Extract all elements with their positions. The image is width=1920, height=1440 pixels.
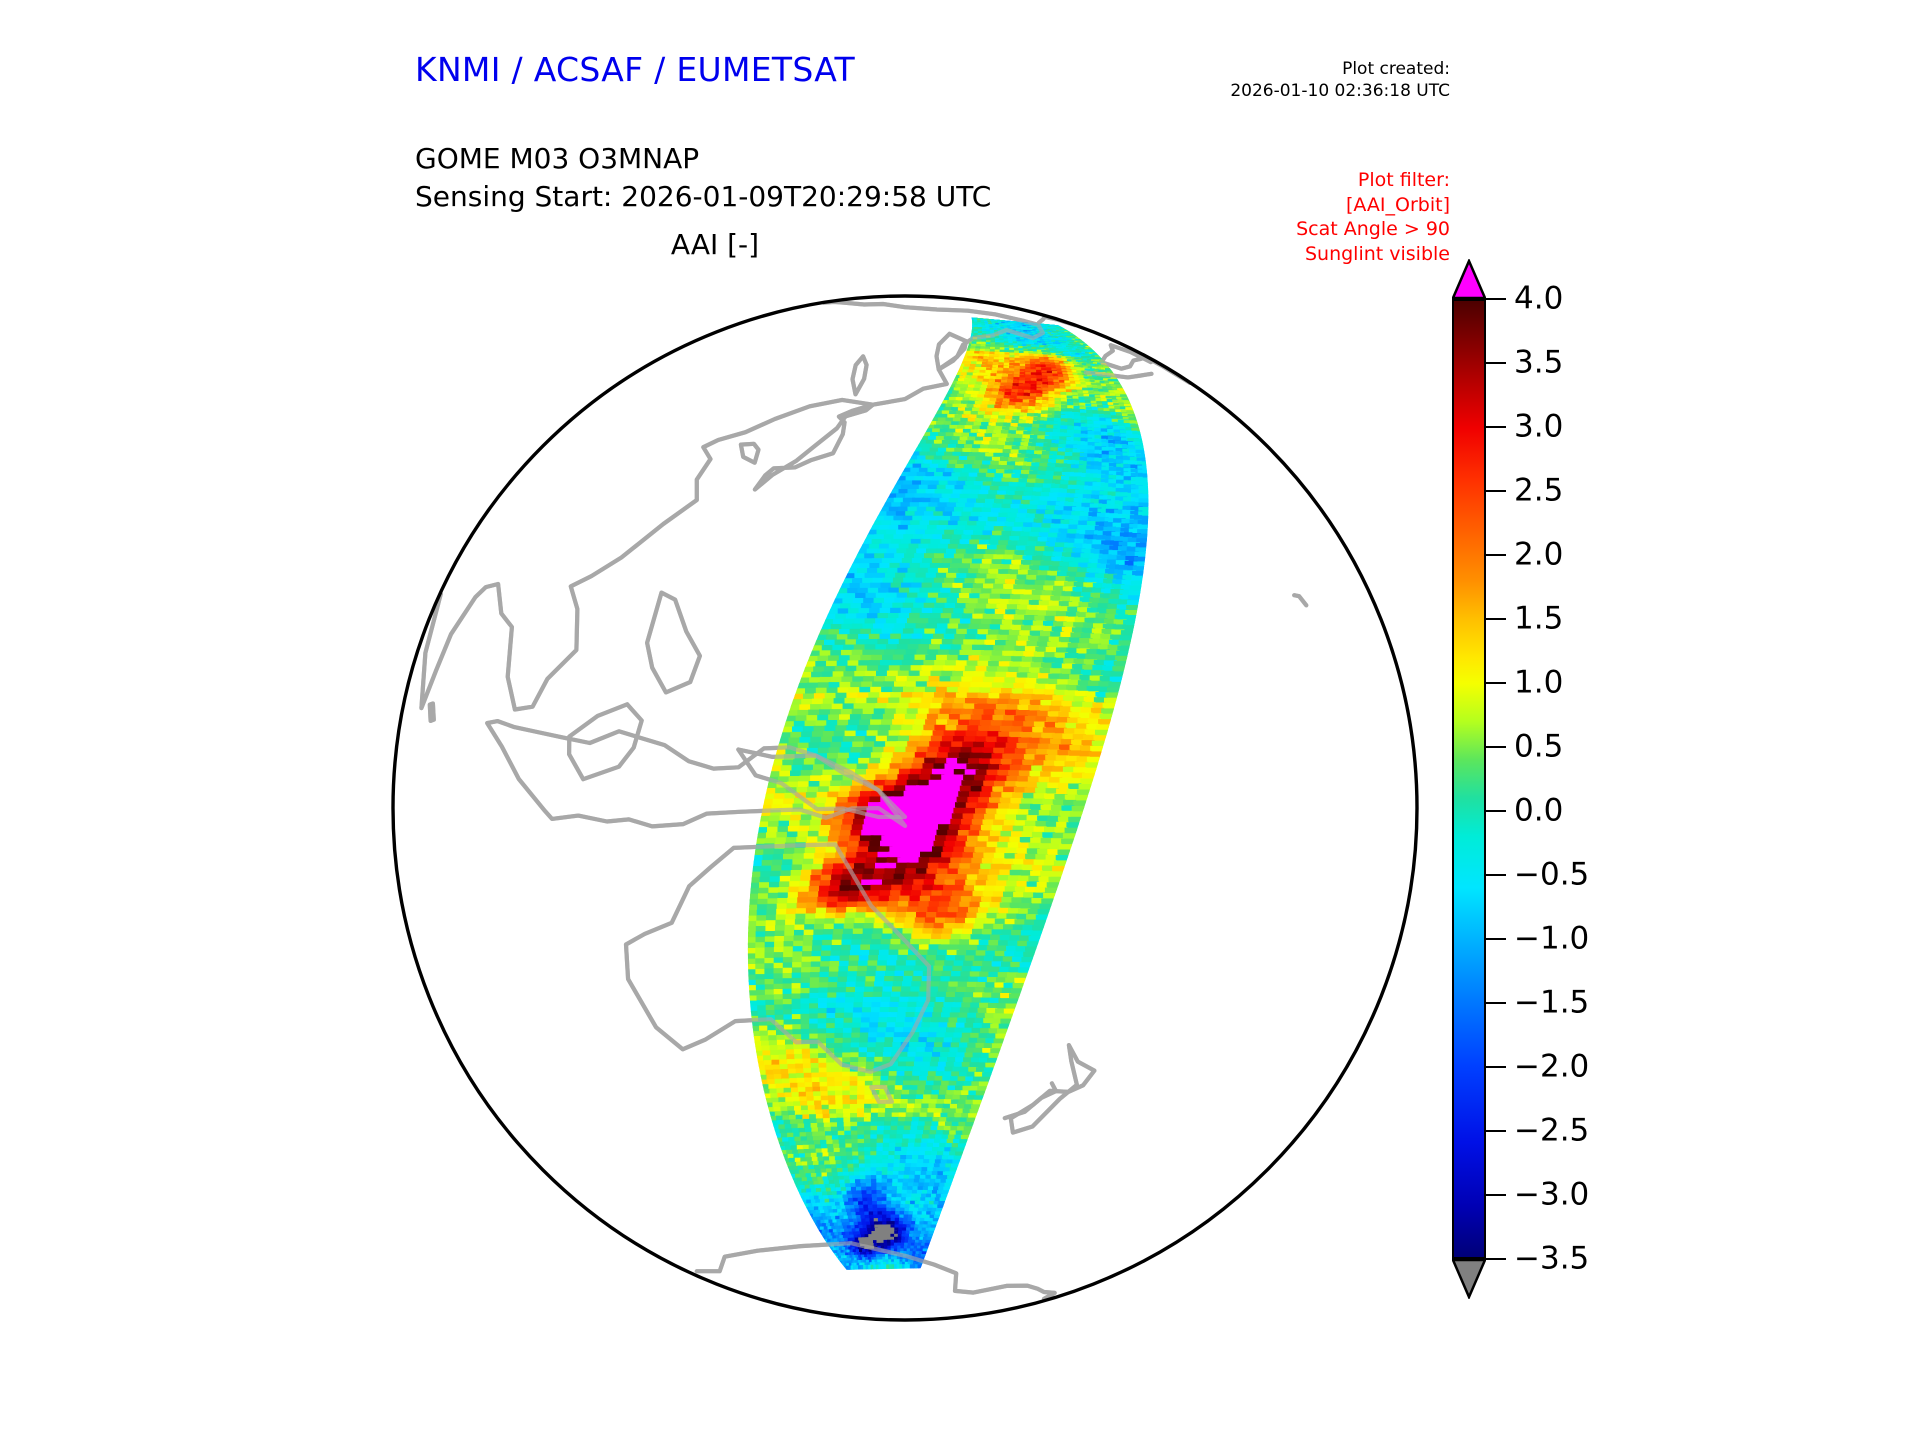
colorbar-tick-label: 4.0: [1514, 284, 1563, 315]
colorbar-tick: [1486, 810, 1506, 813]
colorbar-tick-label: 3.0: [1514, 412, 1563, 443]
plot-filter-block: Plot filter: [AAI_Orbit] Scat Angle > 90…: [1060, 168, 1450, 267]
colorbar-tick-label: −2.0: [1514, 1052, 1589, 1083]
colorbar-tick-label: 2.0: [1514, 540, 1563, 571]
sensing-start-title: Sensing Start: 2026-01-09T20:29:58 UTC: [415, 178, 991, 216]
colorbar-tick-label: −3.5: [1514, 1244, 1589, 1275]
colorbar-tick-label: −0.5: [1514, 860, 1589, 891]
colorbar-tick: [1486, 362, 1506, 365]
colorbar-tick-label: −1.0: [1514, 924, 1589, 955]
colorbar-tick-label: 3.5: [1514, 348, 1563, 379]
colorbar-tick: [1486, 298, 1506, 301]
plot-title-block: GOME M03 O3MNAP Sensing Start: 2026-01-0…: [415, 140, 991, 216]
colorbar-tick: [1486, 938, 1506, 941]
colorbar: [1452, 299, 1486, 1259]
plot-created-block: Plot created: 2026-01-10 02:36:18 UTC: [1060, 58, 1450, 103]
colorbar-tick: [1486, 1258, 1506, 1261]
colorbar-tick: [1486, 1130, 1506, 1133]
plot-canvas: KNMI / ACSAF / EUMETSAT Plot created: 20…: [0, 0, 1920, 1440]
colorbar-tick-labels: 4.03.53.02.52.01.51.00.50.0−0.5−1.0−1.5−…: [1514, 299, 1694, 1259]
instrument-title: GOME M03 O3MNAP: [415, 140, 991, 178]
organisation-header: KNMI / ACSAF / EUMETSAT: [415, 50, 855, 89]
colorbar-under-arrow: [1452, 1259, 1486, 1299]
colorbar-tick: [1486, 1066, 1506, 1069]
colorbar-tick-label: 0.0: [1514, 796, 1563, 827]
colorbar-tick: [1486, 1194, 1506, 1197]
colorbar-tick: [1486, 1002, 1506, 1005]
colorbar-tick: [1486, 746, 1506, 749]
globe-map: [385, 288, 1425, 1328]
plot-filter-line-2: Scat Angle > 90: [1060, 217, 1450, 242]
colorbar-tick-label: −1.5: [1514, 988, 1589, 1019]
colorbar-tick-label: 0.5: [1514, 732, 1563, 763]
colorbar-tick: [1486, 618, 1506, 621]
colorbar-tick: [1486, 490, 1506, 493]
colorbar-tick: [1486, 554, 1506, 557]
plot-created-label: Plot created:: [1060, 58, 1450, 80]
colorbar-gradient: [1454, 301, 1484, 1257]
colorbar-tick: [1486, 426, 1506, 429]
colorbar-tick-label: 1.0: [1514, 668, 1563, 699]
colorbar-tick: [1486, 682, 1506, 685]
coastline-path: [430, 704, 434, 721]
plot-created-timestamp: 2026-01-10 02:36:18 UTC: [1060, 80, 1450, 102]
colorbar-tick-label: 1.5: [1514, 604, 1563, 635]
colorbar-tick-label: −3.0: [1514, 1180, 1589, 1211]
colorbar-over-arrow: [1452, 259, 1486, 299]
colorbar-tick-label: 2.5: [1514, 476, 1563, 507]
colorbar-tick: [1486, 874, 1506, 877]
plot-filter-line-0: Plot filter:: [1060, 168, 1450, 193]
colorbar-tick-label: −2.5: [1514, 1116, 1589, 1147]
globe-svg: [385, 288, 1425, 1328]
plot-filter-line-3: Sunglint visible: [1060, 242, 1450, 267]
plot-filter-line-1: [AAI_Orbit]: [1060, 193, 1450, 218]
